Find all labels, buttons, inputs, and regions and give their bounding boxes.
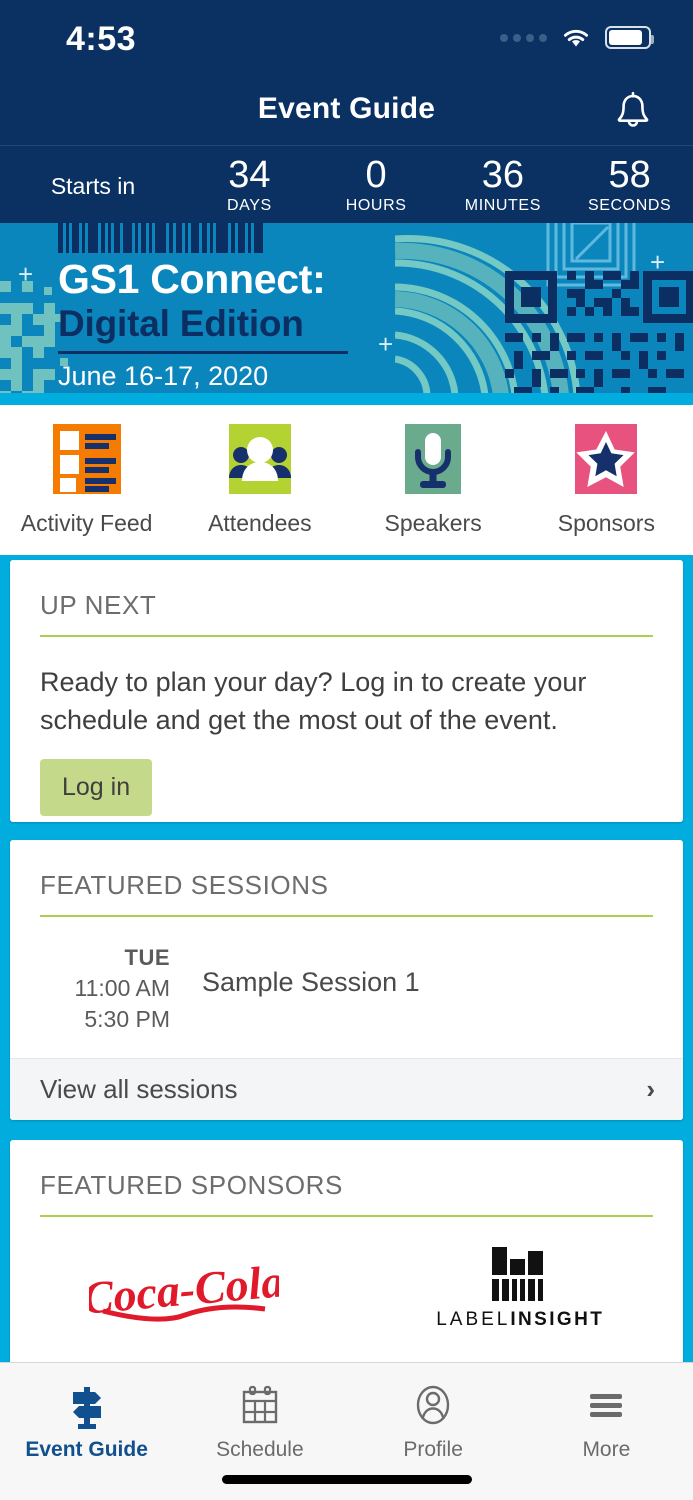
event-banner[interactable]: + + + GS1 Connect: Digital Edition June … — [0, 223, 693, 405]
banner-rule — [58, 351, 348, 354]
hamburger-icon — [586, 1381, 626, 1431]
countdown-days-unit: DAYS — [186, 197, 313, 215]
countdown-minutes: 36 MINUTES — [440, 155, 567, 215]
session-list-item[interactable]: TUE 11:00 AM 5:30 PM Sample Session 1 — [10, 917, 683, 1063]
countdown-bar: Starts in 34 DAYS 0 HOURS 36 MINUTES 58 … — [0, 145, 693, 223]
status-time: 4:53 — [66, 20, 136, 59]
label-insight-wordmark-light: LABEL — [436, 1309, 510, 1330]
sponsor-coca-cola[interactable]: Coca-Cola — [89, 1249, 279, 1327]
session-title: Sample Session 1 — [170, 945, 653, 1033]
battery-icon — [605, 26, 651, 49]
quick-nav-row: Activity Feed Attendees — [0, 405, 693, 555]
banner-subtitle: Digital Edition — [58, 303, 304, 345]
countdown-seconds: 58 SECONDS — [566, 155, 693, 215]
signpost-icon — [67, 1381, 107, 1431]
countdown-minutes-unit: MINUTES — [440, 197, 567, 215]
tab-label: Event Guide — [25, 1438, 148, 1462]
event-guide-app: 4:53 Event Guide Starts in 34 — [0, 0, 693, 1500]
bottom-tab-bar: Event Guide Schedule Prof — [0, 1362, 693, 1500]
up-next-heading: UP NEXT — [10, 560, 683, 635]
login-button[interactable]: Log in — [40, 759, 152, 816]
quick-nav-label: Attendees — [208, 510, 312, 537]
status-icons — [500, 26, 651, 49]
banner-bottom-strip — [0, 393, 693, 405]
wifi-icon — [561, 27, 591, 49]
tab-more[interactable]: More — [520, 1363, 693, 1500]
featured-sponsors-heading: FEATURED SPONSORS — [10, 1140, 683, 1215]
countdown-days: 34 DAYS — [186, 155, 313, 215]
countdown-hours: 0 HOURS — [313, 155, 440, 215]
countdown-seconds-unit: SECONDS — [566, 197, 693, 215]
banner-qr-right-decoration — [505, 271, 693, 395]
tab-label: Profile — [403, 1438, 463, 1462]
quick-nav-sponsors[interactable]: Sponsors — [520, 405, 693, 555]
sponsor-logo-row: Coca-Cola — [10, 1217, 683, 1331]
session-end-time: 5:30 PM — [40, 1006, 170, 1033]
featured-sessions-card: FEATURED SESSIONS TUE 11:00 AM 5:30 PM S… — [10, 840, 683, 1120]
people-icon — [221, 422, 299, 496]
view-all-sessions-row[interactable]: View all sessions › — [10, 1058, 683, 1120]
bell-icon[interactable] — [609, 88, 657, 136]
microphone-icon — [394, 422, 472, 496]
countdown-seconds-value: 58 — [566, 155, 693, 195]
nav-header: Event Guide — [0, 78, 693, 145]
tab-label: More — [582, 1438, 630, 1462]
countdown-hours-value: 0 — [313, 155, 440, 195]
calendar-icon — [240, 1381, 280, 1431]
session-time-block: TUE 11:00 AM 5:30 PM — [40, 945, 170, 1033]
tab-event-guide[interactable]: Event Guide — [0, 1363, 173, 1500]
home-indicator — [222, 1475, 472, 1484]
signal-dots-icon — [500, 34, 547, 42]
session-day: TUE — [40, 945, 170, 971]
star-icon — [567, 422, 645, 496]
status-bar: 4:53 — [0, 0, 693, 78]
view-all-sessions-label: View all sessions — [40, 1074, 238, 1105]
session-start-time: 11:00 AM — [40, 975, 170, 1002]
quick-nav-label: Sponsors — [558, 510, 655, 537]
quick-nav-speakers[interactable]: Speakers — [347, 405, 520, 555]
list-icon — [48, 422, 126, 496]
page-title: Event Guide — [0, 92, 693, 126]
quick-nav-activity-feed[interactable]: Activity Feed — [0, 405, 173, 555]
countdown-minutes-value: 36 — [440, 155, 567, 195]
countdown-days-value: 34 — [186, 155, 313, 195]
banner-plus-decoration-3: + — [650, 249, 665, 275]
person-icon — [412, 1381, 454, 1431]
banner-date: June 16-17, 2020 — [58, 361, 268, 392]
banner-plus-decoration-2: + — [378, 331, 393, 357]
banner-plus-decoration-1: + — [18, 261, 33, 287]
sponsor-label-insight[interactable]: LABELINSIGHT — [436, 1245, 604, 1331]
tab-label: Schedule — [216, 1438, 304, 1462]
countdown-hours-unit: HOURS — [313, 197, 440, 215]
banner-title: GS1 Connect: — [58, 256, 326, 303]
label-insight-logo — [484, 1245, 556, 1303]
featured-sessions-heading: FEATURED SESSIONS — [10, 840, 683, 915]
up-next-body: Ready to plan your day? Log in to create… — [10, 637, 683, 739]
quick-nav-label: Activity Feed — [21, 510, 153, 537]
quick-nav-attendees[interactable]: Attendees — [173, 405, 346, 555]
banner-barcode-decoration — [58, 223, 263, 253]
coca-cola-logo: Coca-Cola — [89, 1249, 279, 1327]
label-insight-wordmark: LABELINSIGHT — [436, 1309, 604, 1331]
quick-nav-label: Speakers — [385, 510, 482, 537]
featured-sponsors-card: FEATURED SPONSORS Coca-Cola — [10, 1140, 683, 1375]
label-insight-wordmark-bold: INSIGHT — [510, 1309, 604, 1330]
chevron-right-icon: › — [646, 1074, 655, 1105]
countdown-label: Starts in — [0, 169, 186, 200]
up-next-card: UP NEXT Ready to plan your day? Log in t… — [10, 560, 683, 822]
